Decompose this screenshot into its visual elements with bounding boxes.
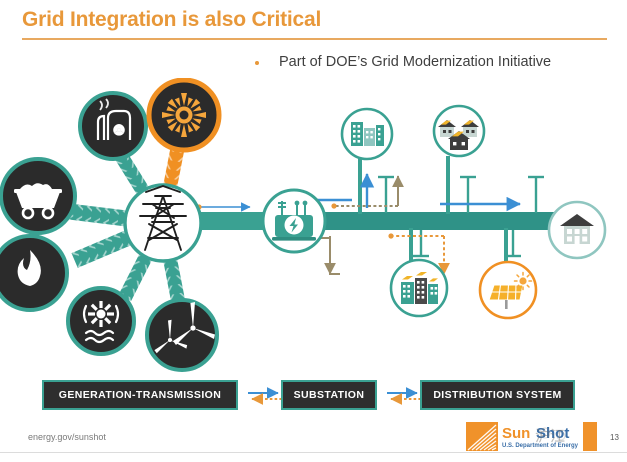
- substation-node: [263, 190, 325, 252]
- load-solar-array: [480, 262, 536, 318]
- load-house: [549, 202, 605, 258]
- transmission-tower-hub: [125, 185, 201, 261]
- load-solar-commercial: [391, 260, 447, 316]
- slide-canvas: Grid Integration is also Critical Part o…: [0, 0, 627, 462]
- bullet-item-0: Part of DOE’s Grid Modernization Initiat…: [279, 52, 597, 73]
- sunshot-doe-logo: Sun Shot U.S. Department of Energy: [466, 421, 606, 453]
- process-flow-bar: GENERATION-TRANSMISSION SUBSTATION: [0, 380, 627, 416]
- generation-source-natural-gas: [0, 236, 67, 310]
- title-divider: [22, 38, 607, 40]
- flow-connector-1: [244, 386, 286, 406]
- generation-source-nuclear: [80, 93, 146, 159]
- grid-diagram: [0, 78, 627, 378]
- load-office-building: [342, 109, 392, 159]
- page-title: Grid Integration is also Critical: [22, 8, 321, 32]
- svg-text:Sun: Sun: [502, 425, 530, 442]
- flow-stage-distribution-system[interactable]: DISTRIBUTION SYSTEM: [420, 380, 575, 410]
- page-number: 13: [610, 433, 619, 442]
- generation-source-coal: [1, 159, 75, 233]
- svg-text:U.S. Department of Energy: U.S. Department of Energy: [502, 443, 579, 449]
- load-solar-homes: [434, 106, 484, 156]
- bullet-dot-icon: [255, 61, 259, 65]
- flow-connector-2: [383, 386, 425, 406]
- flow-stage-generation-transmission[interactable]: GENERATION-TRANSMISSION: [42, 380, 238, 410]
- generation-source-solar: [149, 80, 219, 150]
- flow-stage-substation[interactable]: SUBSTATION: [281, 380, 377, 410]
- footer-url[interactable]: energy.gov/sunshot: [28, 432, 106, 442]
- svg-text:Shot: Shot: [536, 425, 569, 442]
- generation-source-hydro: [68, 288, 134, 354]
- generation-source-wind: [147, 300, 217, 370]
